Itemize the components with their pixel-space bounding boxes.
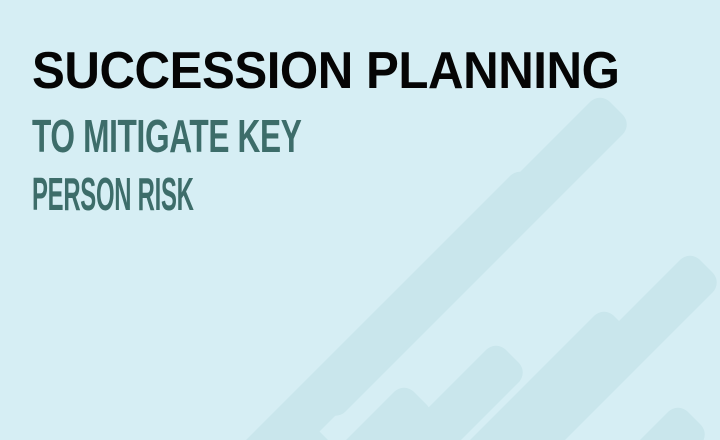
diagonal-stripe [284, 340, 529, 440]
diagonal-stripe [392, 306, 637, 440]
title-line-secondary: TO MITIGATE KEY [32, 108, 472, 164]
diagonal-stripe [248, 382, 436, 440]
title-slide: SUCCESSION PLANNING TO MITIGATE KEY PERS… [0, 0, 720, 440]
title-block: SUCCESSION PLANNING TO MITIGATE KEY PERS… [32, 42, 672, 222]
title-line-primary: SUCCESSION PLANNING [32, 42, 638, 100]
diagonal-stripe [551, 402, 711, 440]
diagonal-stripe [179, 418, 339, 440]
diagonal-stripe [478, 250, 720, 440]
title-line-tertiary: PERSON RISK [32, 166, 364, 222]
